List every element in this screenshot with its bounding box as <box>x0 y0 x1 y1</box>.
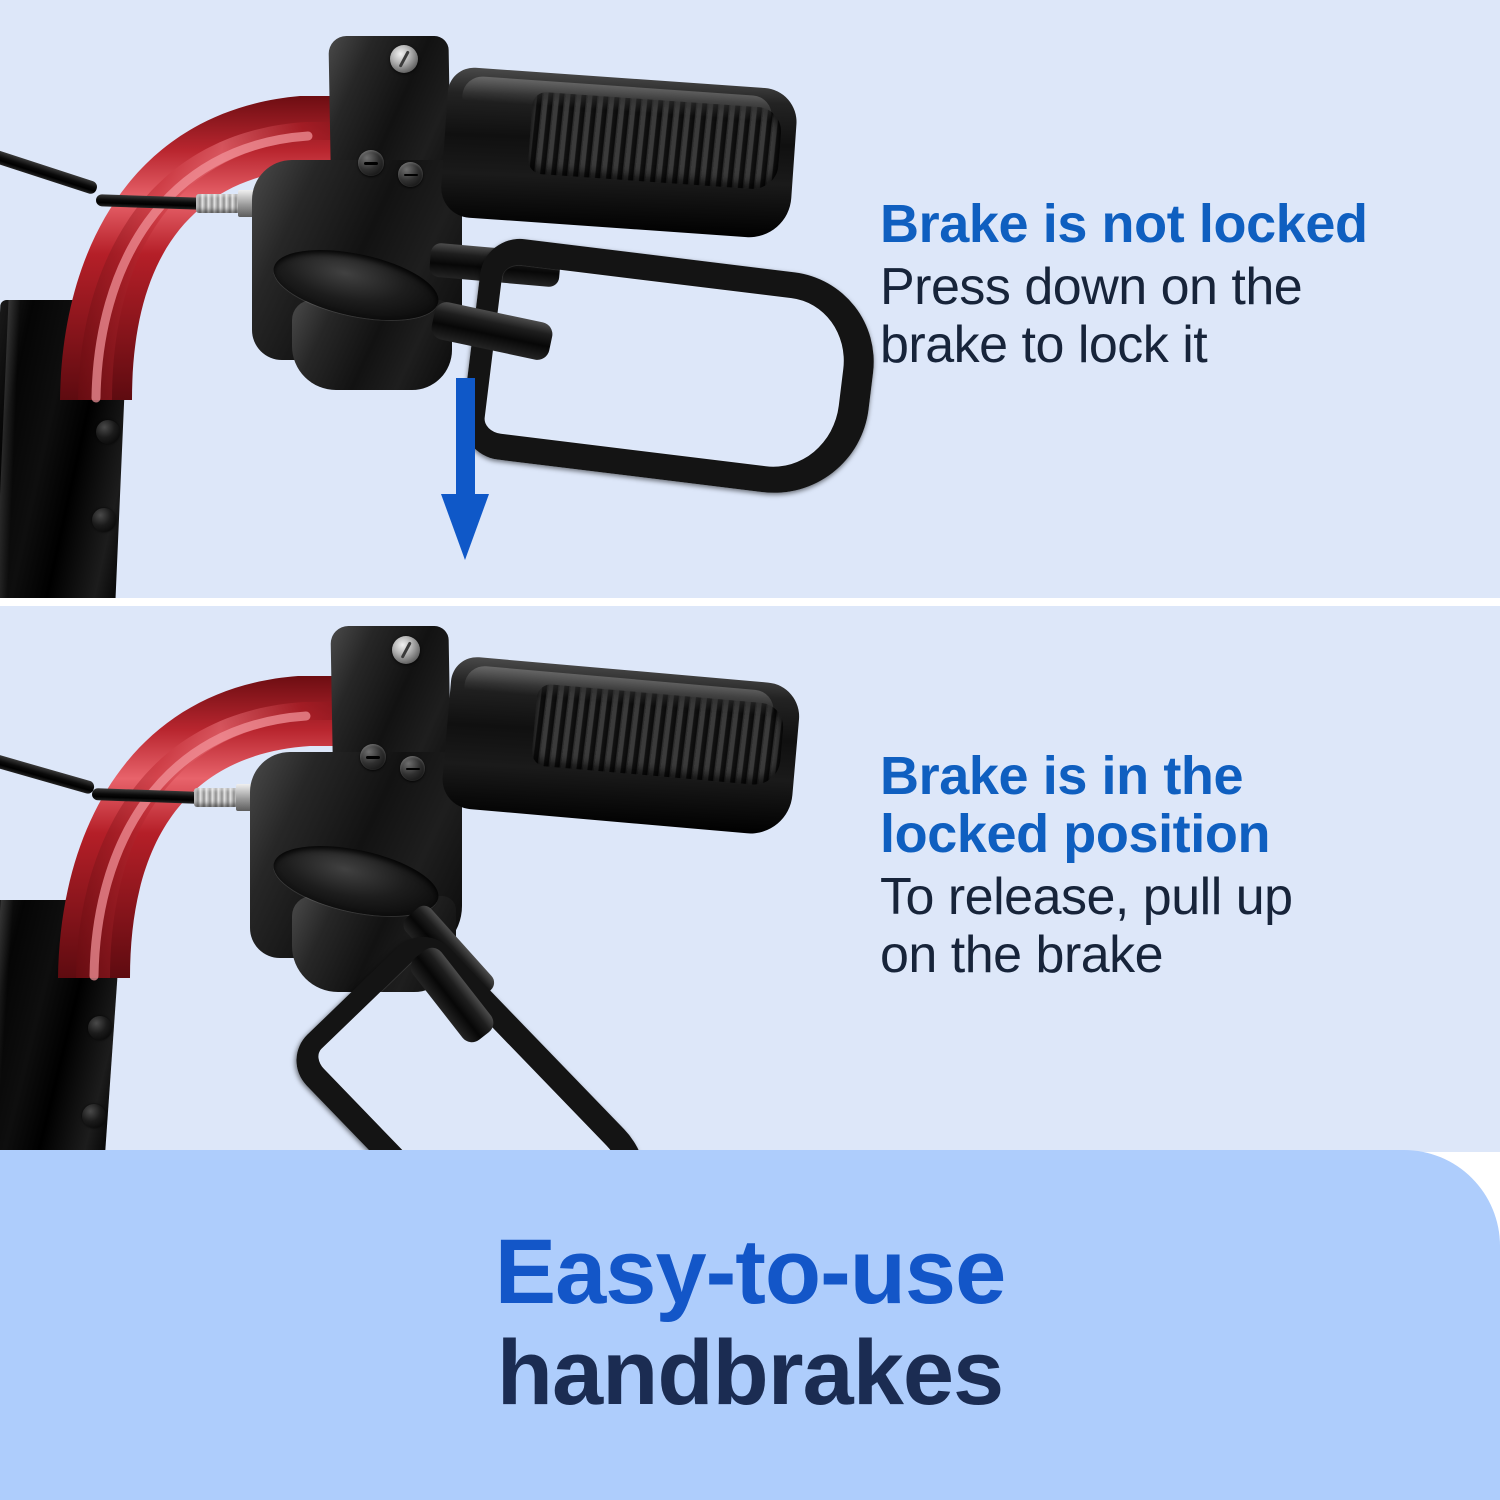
housing-screw-icon <box>360 744 386 770</box>
photo-brake-locked <box>0 606 840 1152</box>
infographic-root: Brake is not locked Press down on the br… <box>0 0 1500 1500</box>
housing-screw-icon <box>400 756 425 781</box>
banner-headline-primary: Easy-to-use <box>495 1226 1006 1318</box>
cable-adjuster-barrel <box>196 194 240 213</box>
bottom-banner: Easy-to-use handbrakes <box>0 1150 1500 1500</box>
callout-locked: Brake is in the locked position To relea… <box>880 748 1460 984</box>
panel-brake-unlocked: Brake is not locked Press down on the br… <box>0 0 1500 598</box>
panel-brake-locked: Brake is in the locked position To relea… <box>0 606 1500 1152</box>
housing-screw-icon <box>398 162 423 187</box>
cable-adjuster-barrel <box>194 788 238 807</box>
down-arrow-icon <box>441 494 489 560</box>
housing-top-screw-icon <box>392 636 420 664</box>
callout-body: To release, pull up on the brake <box>880 868 1460 984</box>
housing-screw-icon <box>358 150 384 176</box>
callout-heading: Brake is in the locked position <box>880 748 1460 864</box>
photo-brake-unlocked <box>0 0 840 598</box>
housing-top-screw-icon <box>390 45 418 73</box>
callout-heading: Brake is not locked <box>880 196 1460 254</box>
banner-headline-secondary: handbrakes <box>497 1324 1003 1423</box>
down-arrow-icon <box>456 378 475 500</box>
callout-unlocked: Brake is not locked Press down on the br… <box>880 196 1460 374</box>
panel-divider <box>0 598 1500 606</box>
callout-body: Press down on the brake to lock it <box>880 258 1460 374</box>
